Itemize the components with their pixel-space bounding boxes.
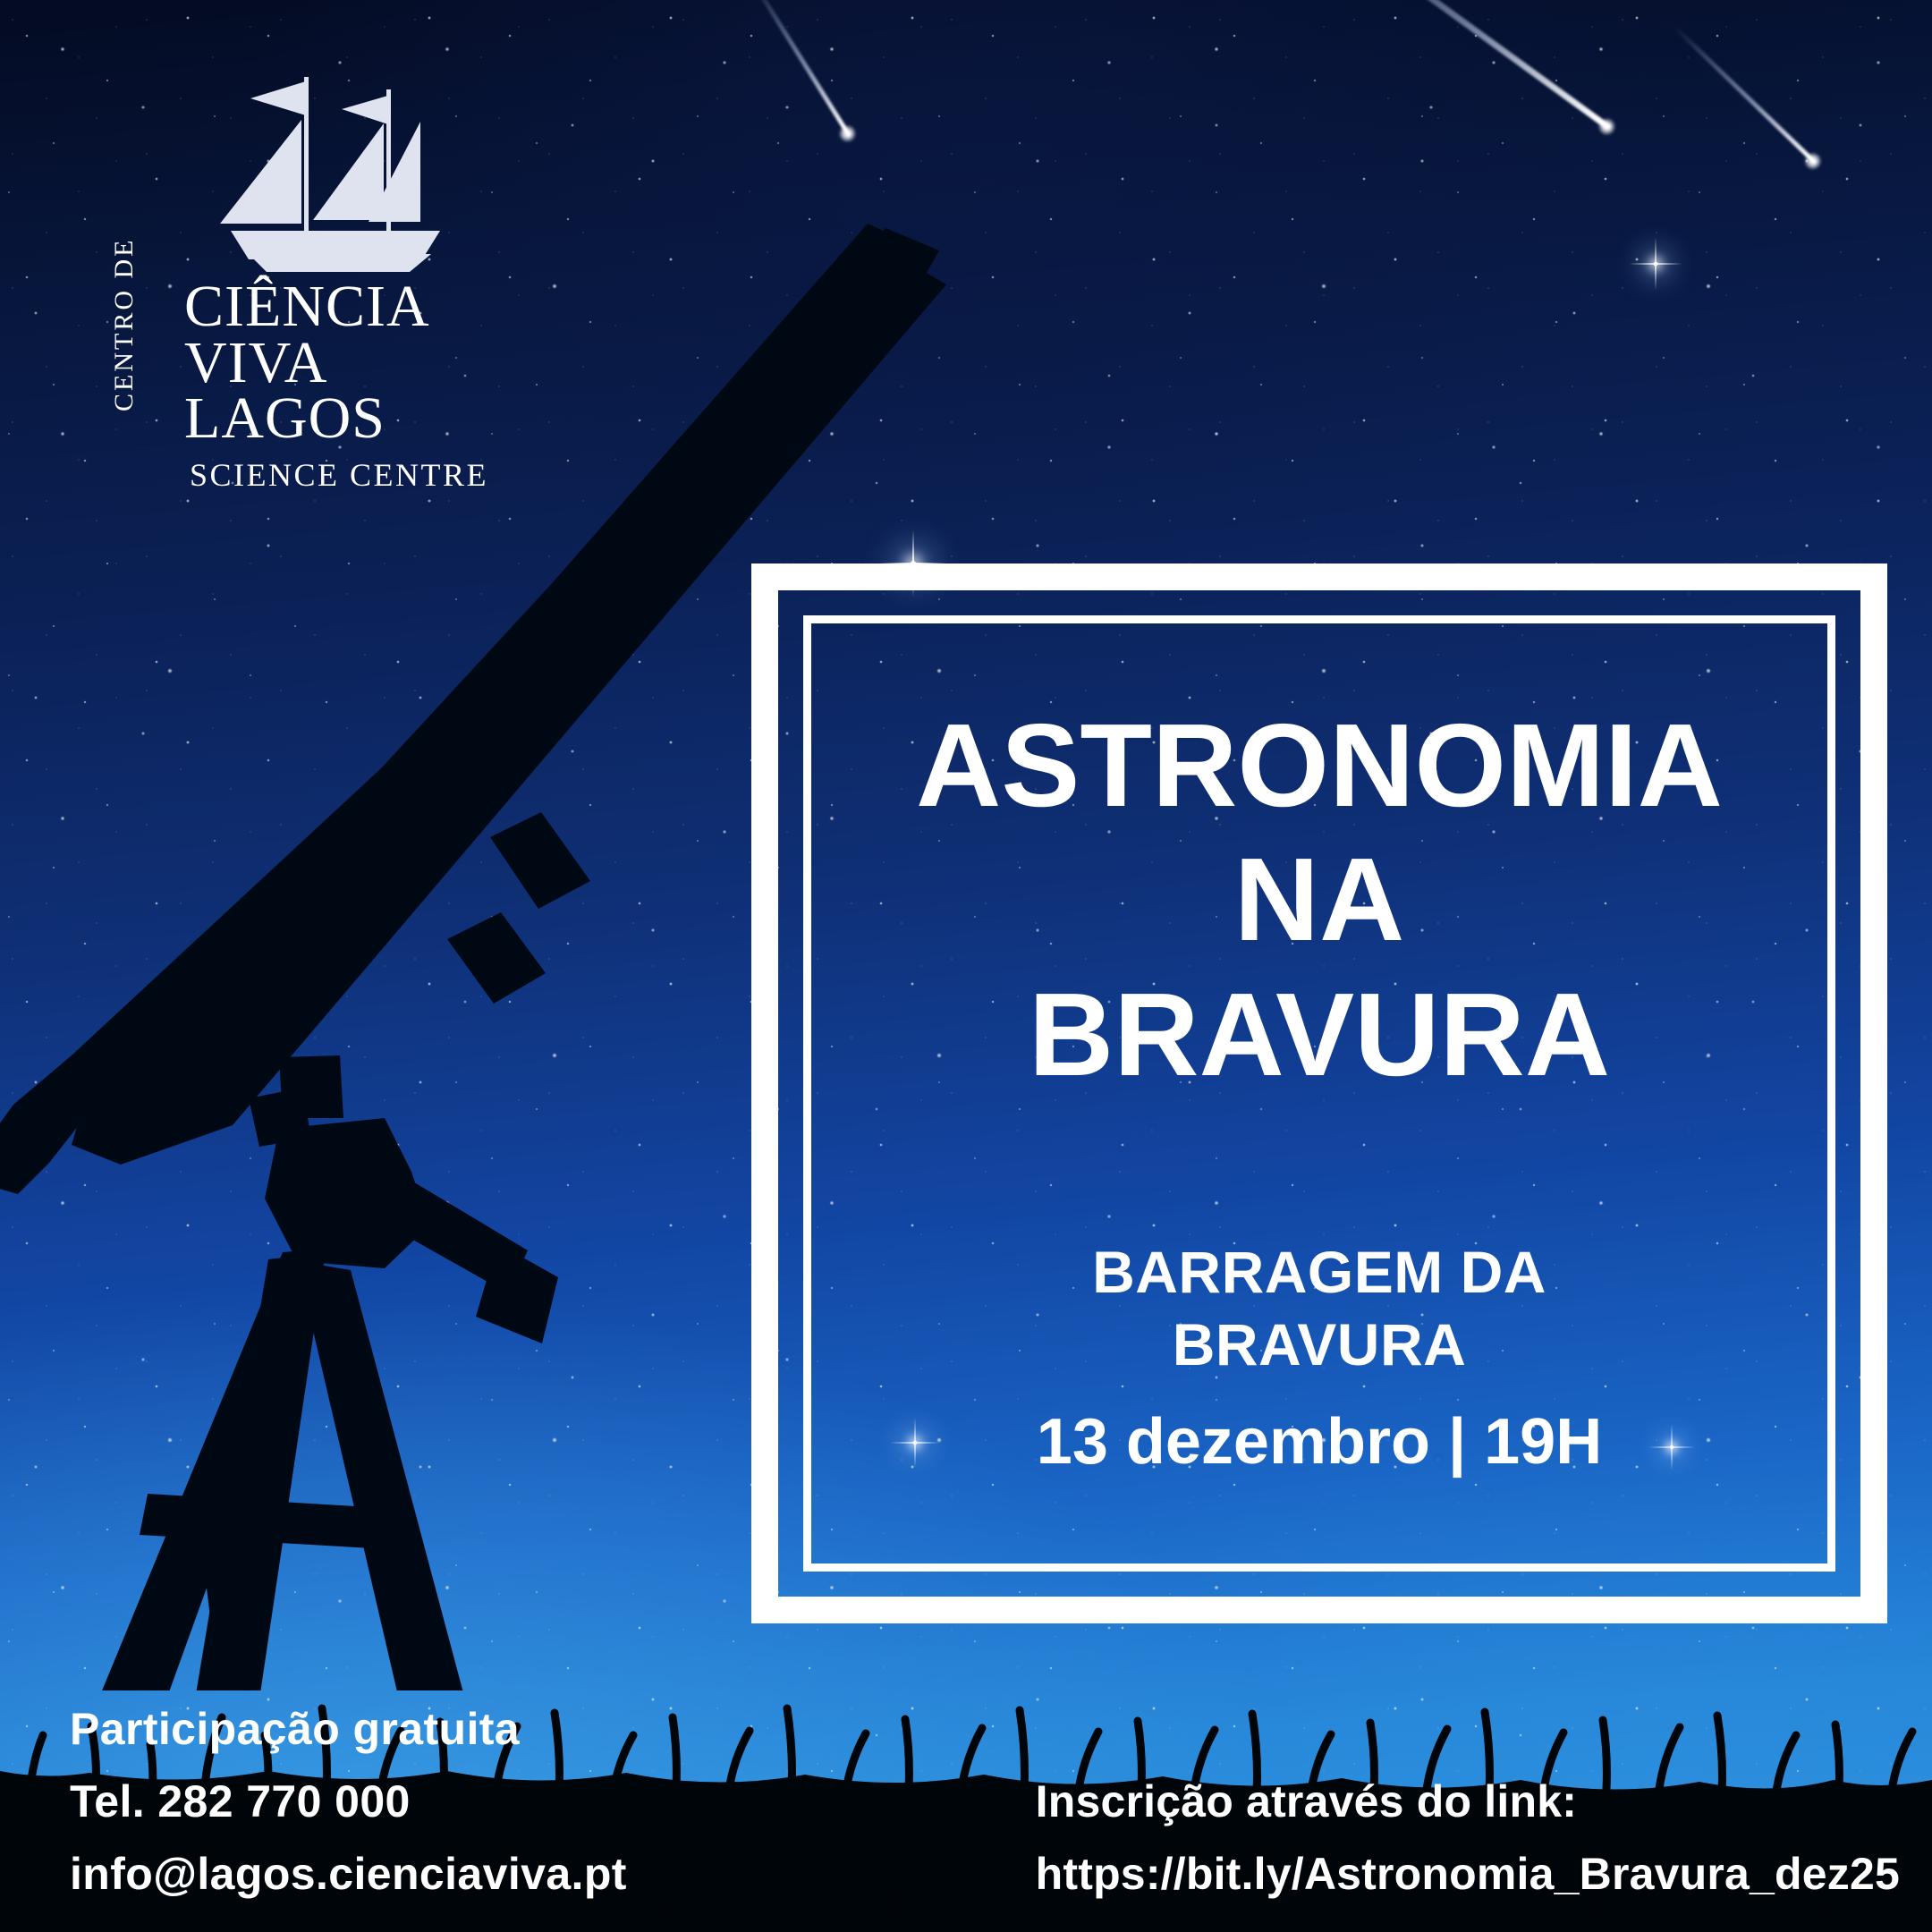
event-title-line-2: NA xyxy=(1234,833,1405,967)
event-frame: ASTRONOMIA NA BRAVURA BARRAGEM DA BRAVUR… xyxy=(751,563,1887,1623)
sparkle-star xyxy=(235,938,238,941)
registration-label: Inscrição através do link: xyxy=(1036,1766,1900,1838)
logo-line-viva: VIVA xyxy=(184,335,492,392)
sparkle-star xyxy=(1654,262,1658,267)
registration-block: Inscrição através do link: https://bit.l… xyxy=(1036,1766,1900,1911)
logo-subtitle: SCIENCE CENTRE xyxy=(190,456,492,494)
participation-note: Participação gratuita xyxy=(70,1693,627,1766)
logo-line-lagos: LAGOS xyxy=(184,391,492,447)
event-frame-inner: ASTRONOMIA NA BRAVURA BARRAGEM DA BRAVUR… xyxy=(803,615,1835,1572)
event-title-line-1: ASTRONOMIA xyxy=(916,699,1723,833)
phone-number: Tel. 282 770 000 xyxy=(70,1766,627,1838)
ciencia-viva-logo: CENTRO DE CIÊNCIA VIVA LAGOS SCIENCE CEN… xyxy=(116,70,492,494)
event-title-line-3: BRAVURA xyxy=(1029,968,1610,1102)
registration-link[interactable]: https://bit.ly/Astronomia_Bravura_dez25 xyxy=(1036,1838,1900,1911)
logo-line-ciencia: CIÊNCIA xyxy=(184,279,492,335)
contact-info-block: Participação gratuita Tel. 282 770 000 i… xyxy=(70,1693,627,1911)
event-venue-line-2: BRAVURA xyxy=(1173,1309,1467,1381)
poster: CENTRO DE CIÊNCIA VIVA LAGOS SCIENCE CEN… xyxy=(0,0,1932,1932)
event-datetime: 13 dezembro | 19H xyxy=(1037,1403,1602,1480)
event-venue-line-1: BARRAGEM DA xyxy=(1092,1236,1546,1309)
logo-centro-de-label: CENTRO DE xyxy=(109,238,140,412)
email-address[interactable]: info@lagos.cienciaviva.pt xyxy=(70,1838,627,1911)
sailing-ship-icon xyxy=(179,70,447,284)
